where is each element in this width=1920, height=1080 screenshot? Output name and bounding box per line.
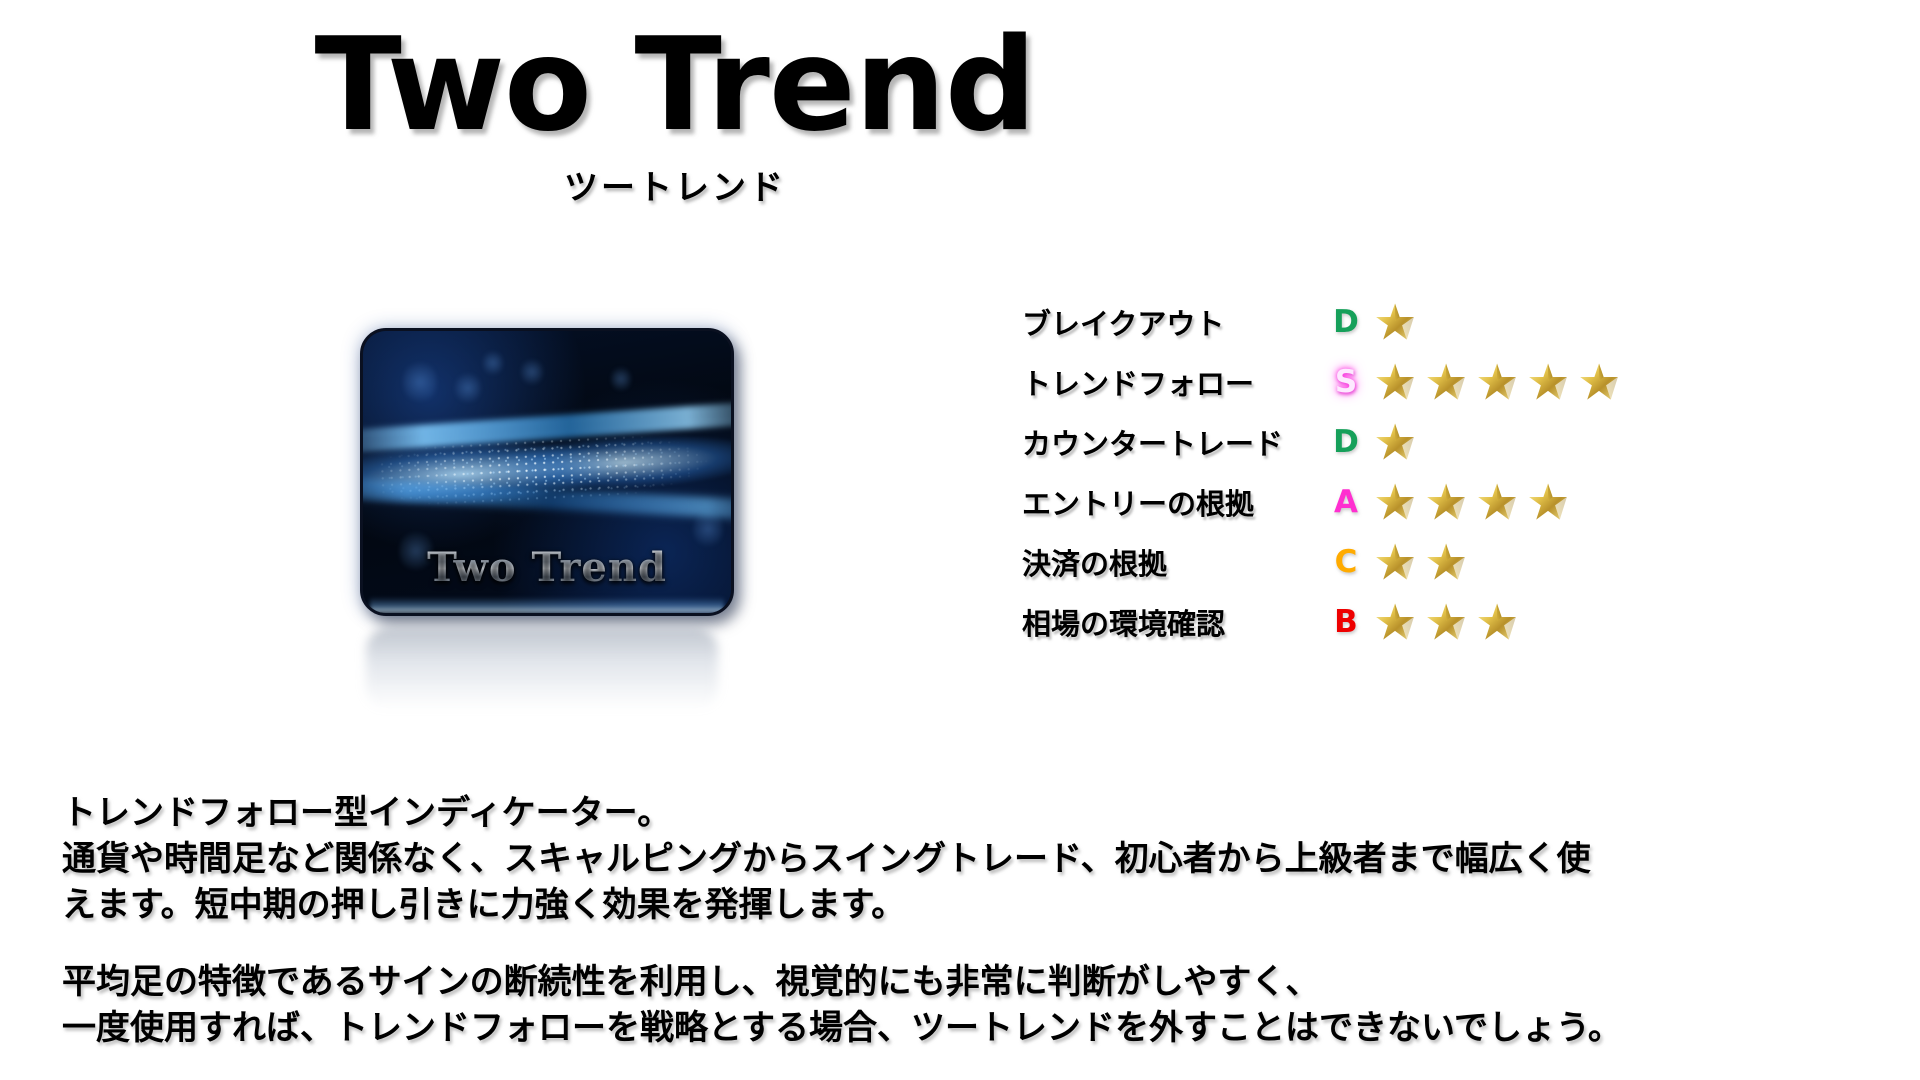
bokeh-dot-icon — [403, 359, 437, 405]
rating-stars — [1370, 541, 1467, 583]
description-line: トレンドフォロー型インディケーター。 — [62, 790, 1892, 836]
page-subtitle: ツートレンド — [0, 160, 1350, 209]
page-title: Two Trend — [0, 18, 1350, 154]
rating-label: ブレイクアウト — [1022, 301, 1322, 343]
rating-label: 相場の環境確認 — [1022, 601, 1322, 643]
rating-row: 決済の根拠 C — [1022, 532, 1620, 592]
description-line: 通貨や時間足など関係なく、スキャルピングからスイングトレード、初心者から上級者ま… — [62, 836, 1892, 882]
rating-grade: S — [1322, 367, 1370, 398]
title-block: Two Trend ツートレンド — [0, 18, 1350, 209]
star-icon — [1425, 601, 1467, 643]
star-icon — [1578, 361, 1620, 403]
rating-stars — [1370, 421, 1416, 463]
rating-grade: B — [1322, 607, 1370, 638]
star-icon — [1476, 361, 1518, 403]
rating-grade: D — [1322, 307, 1370, 338]
rating-stars — [1370, 361, 1620, 403]
rating-label: トレンドフォロー — [1022, 361, 1322, 403]
product-reflection — [366, 628, 718, 710]
star-icon — [1374, 541, 1416, 583]
star-icon — [1374, 421, 1416, 463]
rating-row: 相場の環境確認 B — [1022, 592, 1620, 652]
star-icon — [1425, 361, 1467, 403]
star-icon — [1374, 361, 1416, 403]
rating-label: エントリーの根拠 — [1022, 481, 1322, 523]
rating-label: カウンタートレード — [1022, 421, 1322, 463]
rating-stars — [1370, 481, 1569, 523]
rating-row: トレンドフォロー S — [1022, 352, 1620, 412]
slide-root: Two Trend ツートレンド Two Trend ブレイクアウト D — [0, 0, 1920, 1080]
star-icon — [1527, 361, 1569, 403]
description-line: 平均足の特徴であるサインの断続性を利用し、視覚的にも非常に判断がしやすく、 — [62, 959, 1892, 1005]
star-icon — [1425, 481, 1467, 523]
rating-grade: A — [1322, 487, 1370, 518]
bokeh-dot-icon — [483, 349, 503, 377]
description-line: 一度使用すれば、トレンドフォローを戦略とする場合、ツートレンドを外すことはできな… — [62, 1005, 1892, 1051]
star-icon — [1374, 481, 1416, 523]
rating-row: カウンタートレード D — [1022, 412, 1620, 472]
two-trend-product-box: Two Trend — [360, 328, 734, 616]
rating-grade: D — [1322, 427, 1370, 458]
product-logo-text: Two Trend — [363, 544, 731, 591]
bokeh-dot-icon — [611, 365, 631, 393]
rating-grade: C — [1322, 547, 1370, 578]
star-icon — [1374, 301, 1416, 343]
star-icon — [1374, 601, 1416, 643]
description-block: トレンドフォロー型インディケーター。 通貨や時間足など関係なく、スキャルピングか… — [62, 790, 1892, 1051]
bottom-edge-glow — [370, 597, 723, 613]
rating-stars — [1370, 601, 1518, 643]
star-icon — [1476, 601, 1518, 643]
description-line: えます。短中期の押し引きに力強く効果を発揮します。 — [62, 882, 1892, 928]
rating-label: 決済の根拠 — [1022, 541, 1322, 583]
star-icon — [1527, 481, 1569, 523]
ratings-table: ブレイクアウト D — [1022, 292, 1620, 652]
rating-row: ブレイクアウト D — [1022, 292, 1620, 352]
rating-stars — [1370, 301, 1416, 343]
product-image-wrap: Two Trend — [360, 328, 732, 628]
rating-row: エントリーの根拠 A — [1022, 472, 1620, 532]
bokeh-dot-icon — [521, 357, 543, 387]
star-icon — [1425, 541, 1467, 583]
star-icon — [1476, 481, 1518, 523]
bokeh-dot-icon — [455, 371, 481, 405]
